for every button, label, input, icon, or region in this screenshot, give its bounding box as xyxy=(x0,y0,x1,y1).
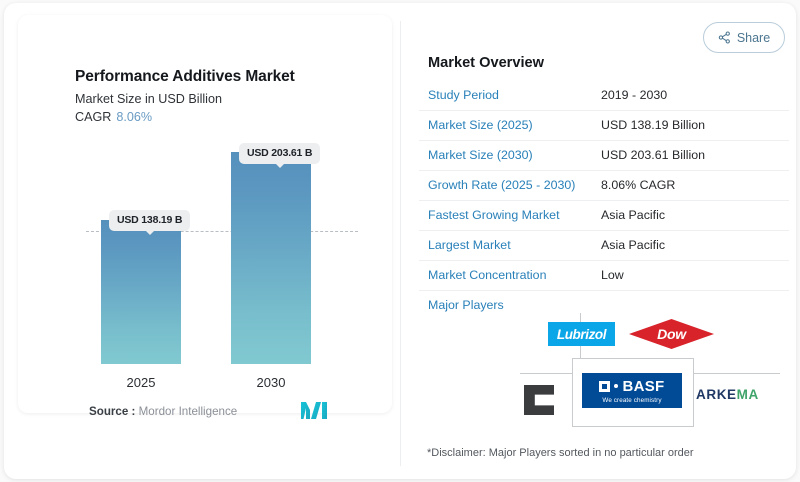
logo-arkema: ARKE MA xyxy=(696,387,759,402)
table-row: Market Concentration Low xyxy=(419,261,789,291)
major-players-label: Major Players xyxy=(428,298,504,312)
table-row: Largest Market Asia Pacific xyxy=(419,231,789,261)
row-label: Market Size (2030) xyxy=(428,148,533,162)
row-value: USD 138.19 Billion xyxy=(601,118,705,132)
row-value: 8.06% CAGR xyxy=(601,178,675,192)
source-name: Mordor Intelligence xyxy=(139,405,238,418)
bar-2025[interactable] xyxy=(101,220,181,364)
basf-dot-icon xyxy=(614,384,618,388)
source-label: Source : xyxy=(89,405,135,418)
row-value: Asia Pacific xyxy=(601,208,665,222)
table-row: Market Size (2030) USD 203.61 Billion xyxy=(419,141,789,171)
screenshot-root: Performance Additives Market Market Size… xyxy=(0,0,800,482)
row-value: Asia Pacific xyxy=(601,238,665,252)
share-button[interactable]: Share xyxy=(703,22,785,53)
share-nodes-icon xyxy=(718,31,731,44)
logo-lubrizol: Lubrizol xyxy=(548,322,615,346)
basf-square-icon xyxy=(599,381,610,392)
market-overview-title: Market Overview xyxy=(428,55,544,71)
row-value: Low xyxy=(601,268,624,282)
market-overview-table: Study Period 2019 - 2030 Market Size (20… xyxy=(419,81,789,319)
major-players-logos: Lubrizol Dow BASF We create chemistry xyxy=(504,313,794,425)
table-row: Study Period 2019 - 2030 xyxy=(419,81,789,111)
row-label: Largest Market xyxy=(428,238,511,252)
table-row: Growth Rate (2025 - 2030) 8.06% CAGR xyxy=(419,171,789,201)
x-axis-tick-2025: 2025 xyxy=(86,375,196,390)
table-row: Fastest Growing Market Asia Pacific xyxy=(419,201,789,231)
cabot-c-icon xyxy=(524,385,554,415)
logo-arkema-text-accent: MA xyxy=(737,387,759,402)
bar-chart-plot: USD 138.19 B USD 203.61 B 2025 2030 xyxy=(18,15,392,413)
chart-card: Performance Additives Market Market Size… xyxy=(18,15,392,413)
logo-basf-tagline: We create chemistry xyxy=(602,397,661,404)
row-label: Fastest Growing Market xyxy=(428,208,560,222)
row-label: Study Period xyxy=(428,88,499,102)
bar-label-2025: USD 138.19 B xyxy=(109,210,190,231)
logo-basf-text: BASF xyxy=(622,378,664,395)
disclaimer-text: *Disclaimer: Major Players sorted in no … xyxy=(427,447,694,459)
panel-divider xyxy=(400,21,401,466)
source-line: Source : Mordor Intelligence xyxy=(89,405,237,418)
logo-cabot xyxy=(524,385,554,415)
bar-label-2030: USD 203.61 B xyxy=(239,143,320,164)
share-button-label: Share xyxy=(737,31,770,45)
main-card: Performance Additives Market Market Size… xyxy=(4,3,796,479)
row-label: Market Size (2025) xyxy=(428,118,533,132)
mordor-intelligence-logo-icon xyxy=(301,402,327,419)
logo-dow-text: Dow xyxy=(657,326,686,342)
logo-lubrizol-text: Lubrizol xyxy=(557,327,606,342)
basf-wordmark: BASF xyxy=(599,378,664,395)
logo-arkema-text-primary: ARKE xyxy=(696,387,737,402)
x-axis-tick-2030: 2030 xyxy=(216,375,326,390)
row-value: 2019 - 2030 xyxy=(601,88,667,102)
logo-basf: BASF We create chemistry xyxy=(582,373,682,408)
row-value: USD 203.61 Billion xyxy=(601,148,705,162)
row-label: Growth Rate (2025 - 2030) xyxy=(428,178,575,192)
row-label: Market Concentration xyxy=(428,268,546,282)
dow-diamond-icon: Dow xyxy=(629,319,714,349)
table-row: Market Size (2025) USD 138.19 Billion xyxy=(419,111,789,141)
logo-dow: Dow xyxy=(629,319,714,349)
bar-2030[interactable] xyxy=(231,152,311,364)
